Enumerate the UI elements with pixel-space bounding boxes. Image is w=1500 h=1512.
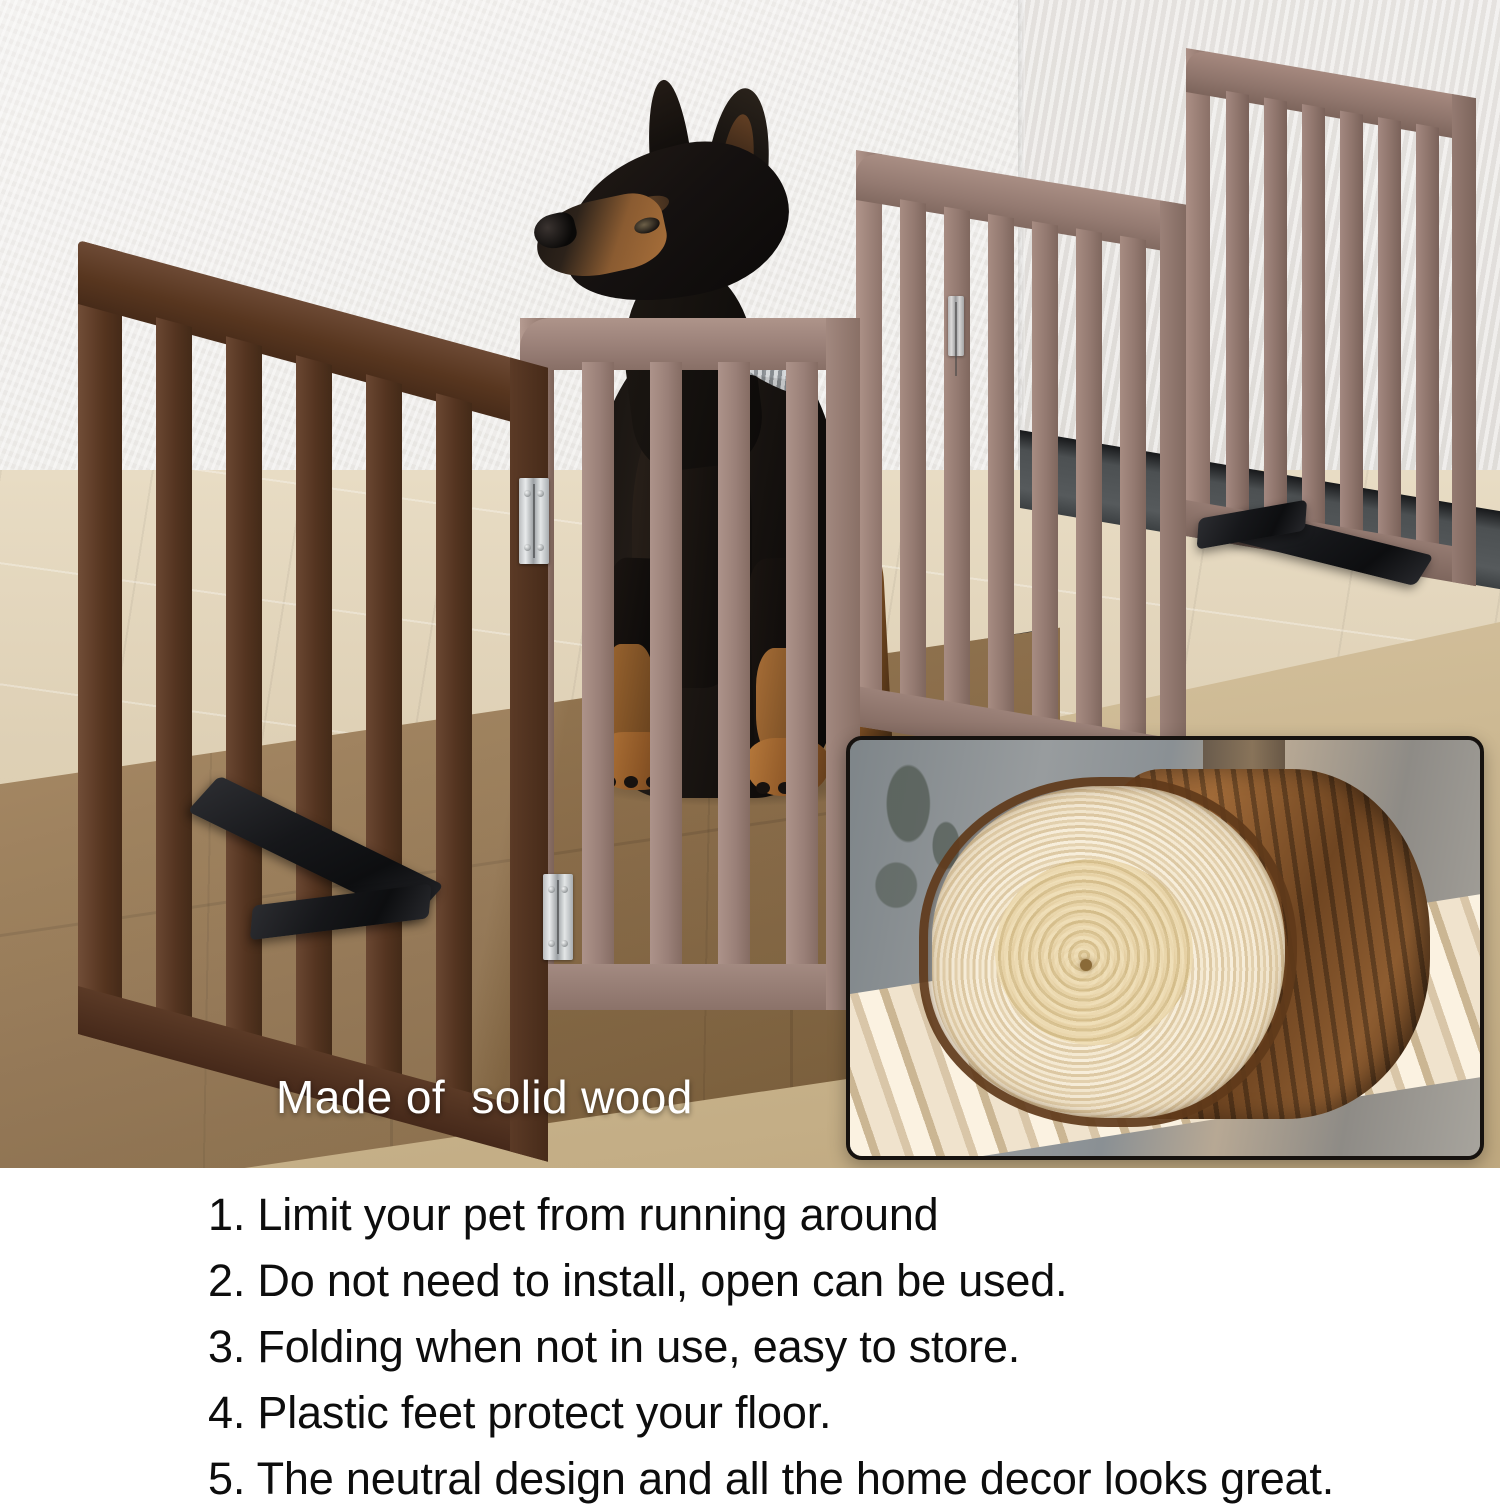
feature-item-3: 3. Folding when not in use, easy to stor… (0, 1314, 1500, 1380)
gate-slat (1264, 97, 1287, 521)
gate-stile (78, 240, 122, 1046)
gate-hinge-lower (543, 874, 573, 960)
feature-list: 1. Limit your pet from running around 2.… (0, 1168, 1500, 1500)
gate-slat (366, 374, 402, 1082)
gate-slat (582, 362, 614, 972)
gate-slat (436, 393, 472, 1101)
gate-slat (156, 317, 192, 1025)
gate-stile (1160, 200, 1186, 780)
gate-slat (1076, 228, 1102, 732)
log-bark-rim (919, 777, 1297, 1126)
gate-slat (1120, 236, 1146, 740)
feature-item-4: 4. Plastic feet protect your floor. (0, 1380, 1500, 1446)
gate-hinge-upper (519, 478, 549, 564)
product-photo: Made of solid wood (0, 0, 1500, 1168)
gate-slat (786, 362, 818, 972)
gate-panel-left (78, 240, 548, 1168)
gate-slat (1302, 104, 1325, 528)
gate-panel-far-right (1186, 48, 1476, 668)
feature-item-2: 2. Do not need to install, open can be u… (0, 1248, 1500, 1314)
gate-stile (1452, 94, 1476, 586)
product-image-page: Made of solid wood 1. Limit your pet fro… (0, 0, 1500, 1500)
gate-hinge-right (948, 296, 964, 356)
solid-wood-log-photo (846, 736, 1484, 1160)
gate-slat (718, 362, 750, 972)
gate-slat (1032, 221, 1058, 725)
gate-slat (1378, 117, 1401, 541)
gate-slat (1340, 111, 1363, 535)
gate-bottom-rail (520, 964, 860, 1010)
feature-item-5: 5. The neutral design and all the home d… (0, 1446, 1500, 1512)
gate-slat (900, 199, 926, 703)
gate-slat (296, 355, 332, 1063)
gate-slat (988, 214, 1014, 718)
gate-slat (944, 207, 970, 711)
photo-caption: Made of solid wood (276, 1070, 693, 1124)
gate-slat (1416, 124, 1439, 548)
gate-slat (650, 362, 682, 972)
gate-slat (1226, 91, 1249, 515)
feature-item-1: 1. Limit your pet from running around (0, 1182, 1500, 1248)
gate-stile (1186, 48, 1210, 540)
